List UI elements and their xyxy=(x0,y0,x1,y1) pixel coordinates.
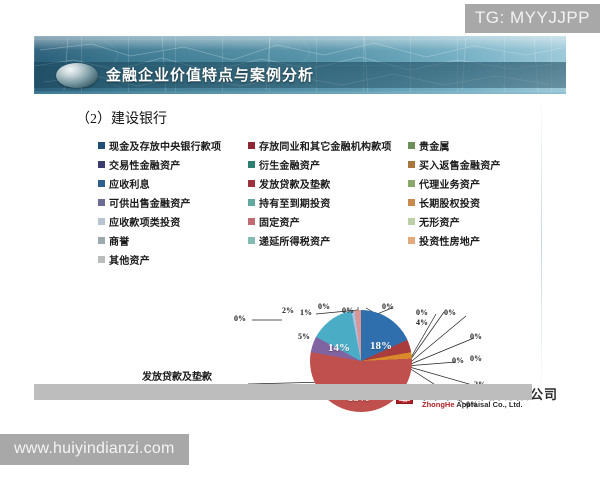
legend-item: 递延所得税资产 xyxy=(248,231,408,250)
legend-swatch xyxy=(98,256,105,263)
pie-outer-label: 2% xyxy=(282,306,294,315)
decorative-ellipse-icon xyxy=(56,63,98,88)
legend-column-2: 存放同业和其它金融机构款项 衍生金融资产 发放贷款及垫款 持有至到期投资 固定资… xyxy=(248,136,408,250)
legend-item: 无形资产 xyxy=(408,212,550,231)
legend-item: 应收款项类投资 xyxy=(98,212,248,231)
legend-label: 衍生金融资产 xyxy=(259,157,320,172)
legend-label: 代理业务资产 xyxy=(419,176,480,191)
legend-swatch xyxy=(98,199,105,206)
pie-outer-label: 0% xyxy=(470,332,482,341)
pie-outer-label: 4% xyxy=(416,318,428,327)
logo-brand-rest: Appraisal Co., Ltd. xyxy=(455,400,523,409)
legend-item: 长期股权投资 xyxy=(408,193,550,212)
legend-column-3: 贵金属 买入返售金融资产 代理业务资产 长期股权投资 无形资产 投资性房地产 xyxy=(408,136,550,250)
legend-swatch xyxy=(408,199,415,206)
legend-item: 现金及存放中央银行款项 xyxy=(98,136,248,155)
legend-label: 持有至到期投资 xyxy=(259,195,330,210)
legend-swatch xyxy=(248,142,255,149)
legend-item: 买入返售金融资产 xyxy=(408,155,550,174)
pie-outer-label: 0% xyxy=(234,314,246,323)
legend-label: 投资性房地产 xyxy=(419,233,480,248)
header-divider xyxy=(34,92,566,94)
legend-label: 现金及存放中央银行款项 xyxy=(109,138,221,153)
legend-item: 应收利息 xyxy=(98,174,248,193)
legend-item: 商誉 xyxy=(98,231,248,250)
legend-swatch xyxy=(98,142,105,149)
pie-slice-label: 18% xyxy=(370,340,392,352)
slide-header-banner: 金融企业价值特点与案例分析 xyxy=(34,36,566,92)
pie-outer-label: 0% xyxy=(382,302,394,311)
legend-item: 其他资产 xyxy=(98,250,248,269)
pie-callout-label: 发放贷款及垫款 xyxy=(142,368,212,383)
legend-swatch xyxy=(248,218,255,225)
screenshot-root: 金融企业价值特点与案例分析 （2）建设银行 现金及存放中央银行款项 交易性金融资… xyxy=(0,0,600,480)
legend-swatch xyxy=(248,180,255,187)
pie-outer-label: 0% xyxy=(318,302,330,311)
pie-outer-label: 0% xyxy=(444,308,456,317)
legend-label: 贵金属 xyxy=(419,138,450,153)
legend-label: 交易性金融资产 xyxy=(109,157,180,172)
pie-outer-label: 0% xyxy=(452,356,464,365)
legend-item: 持有至到期投资 xyxy=(248,193,408,212)
pie-outer-label: 5% xyxy=(298,332,310,341)
legend-item: 可供出售金融资产 xyxy=(98,193,248,212)
legend-item: 代理业务资产 xyxy=(408,174,550,193)
legend-label: 应收款项类投资 xyxy=(109,214,180,229)
legend-swatch xyxy=(408,142,415,149)
pie-outer-label: 0% xyxy=(416,308,428,317)
legend-swatch xyxy=(248,237,255,244)
legend-label: 可供出售金融资产 xyxy=(109,195,191,210)
legend-swatch xyxy=(98,218,105,225)
slide-subtitle: （2）建设银行 xyxy=(76,108,167,128)
legend-label: 商誉 xyxy=(109,233,129,248)
legend-swatch xyxy=(248,161,255,168)
legend-label: 递延所得税资产 xyxy=(259,233,330,248)
legend-label: 无形资产 xyxy=(419,214,460,229)
pie-outer-label: 1% xyxy=(300,308,312,317)
legend-swatch xyxy=(408,180,415,187)
legend-label: 买入返售金融资产 xyxy=(419,157,501,172)
pie-outer-label: 0% xyxy=(342,306,354,315)
legend-label: 存放同业和其它金融机构款项 xyxy=(259,138,392,153)
legend-label: 固定资产 xyxy=(259,214,300,229)
header-sheen xyxy=(34,36,566,50)
pie-outer-label: 0% xyxy=(470,354,482,363)
legend-item: 固定资产 xyxy=(248,212,408,231)
slide-title: 金融企业价值特点与案例分析 xyxy=(106,64,314,85)
legend-item: 贵金属 xyxy=(408,136,550,155)
legend-swatch xyxy=(98,180,105,187)
legend-label: 应收利息 xyxy=(109,176,150,191)
telegram-watermark: TG: MYYJJPP xyxy=(465,4,600,33)
slide-footer-band xyxy=(34,384,532,400)
legend-swatch xyxy=(408,237,415,244)
legend-column-1: 现金及存放中央银行款项 交易性金融资产 应收利息 可供出售金融资产 应收款项类投… xyxy=(98,136,248,269)
legend-swatch xyxy=(408,218,415,225)
legend-item: 发放贷款及垫款 xyxy=(248,174,408,193)
legend-label: 其他资产 xyxy=(109,252,150,267)
presentation-slide: 金融企业价值特点与案例分析 （2）建设银行 现金及存放中央银行款项 交易性金融资… xyxy=(34,36,566,428)
pie-slice-label: 14% xyxy=(328,342,350,354)
legend-swatch xyxy=(408,161,415,168)
legend-label: 长期股权投资 xyxy=(419,195,480,210)
legend-item: 交易性金融资产 xyxy=(98,155,248,174)
site-watermark: www.huiyindianzi.com xyxy=(0,434,189,465)
logo-english-name: ZhongHe Appraisal Co., Ltd. xyxy=(422,400,523,409)
logo-brand-word: ZhongHe xyxy=(422,400,455,409)
legend-swatch xyxy=(248,199,255,206)
legend-item: 存放同业和其它金融机构款项 xyxy=(248,136,408,155)
legend-swatch xyxy=(98,161,105,168)
legend-item: 衍生金融资产 xyxy=(248,155,408,174)
legend-item: 投资性房地产 xyxy=(408,231,550,250)
legend-label: 发放贷款及垫款 xyxy=(259,176,330,191)
legend-swatch xyxy=(98,237,105,244)
